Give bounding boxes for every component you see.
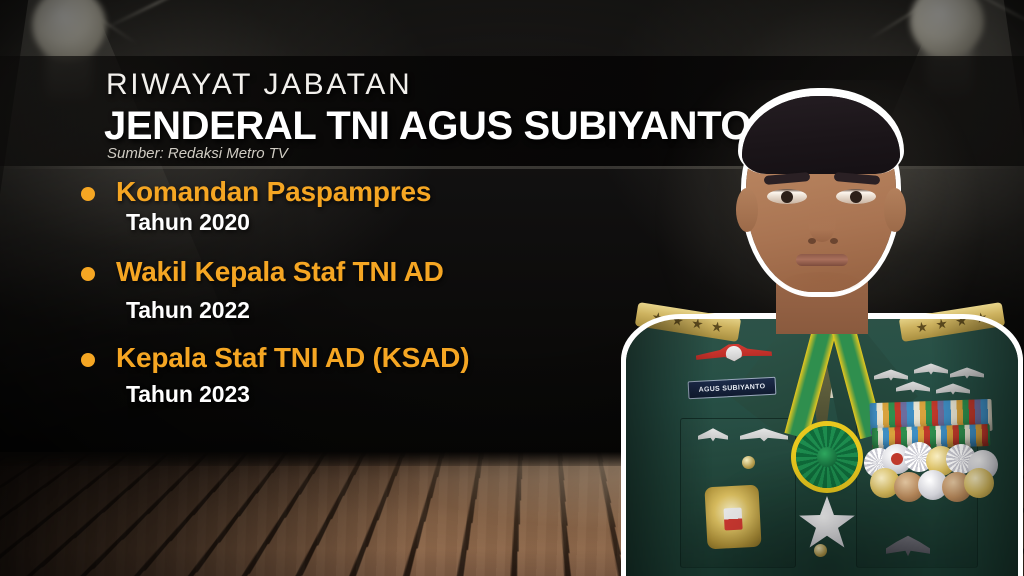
bullet-dot-icon — [81, 267, 95, 281]
kicker-text: RIWAYAT JABATAN — [106, 68, 412, 102]
nose — [808, 200, 836, 242]
career-history-list: Komandan Paspampres Tahun 2020 Wakil Kep… — [78, 176, 638, 420]
jacket-shading — [626, 318, 1018, 576]
source-credit: Sumber: Redaksi Metro TV — [107, 145, 288, 162]
pupil-right — [850, 191, 862, 203]
position-title: Komandan Paspampres — [116, 176, 638, 208]
floor-shadow-left — [0, 452, 420, 576]
nostril-left — [808, 238, 816, 244]
ear-left — [736, 188, 758, 232]
list-item: Kepala Staf TNI AD (KSAD) Tahun 2023 — [78, 342, 638, 408]
bullet-dot-icon — [81, 187, 95, 201]
bullet-dot-icon — [81, 353, 95, 367]
mouth — [796, 254, 848, 266]
position-year: Tahun 2023 — [126, 381, 638, 408]
position-year: Tahun 2020 — [126, 209, 638, 236]
position-year: Tahun 2022 — [126, 297, 638, 324]
portrait-cutout: AGUS SUBIYANTO — [618, 96, 1024, 576]
eye-right — [836, 189, 876, 204]
pupil-left — [781, 191, 793, 203]
list-item: Komandan Paspampres Tahun 2020 — [78, 176, 638, 236]
eye-left — [767, 189, 807, 204]
ear-right — [884, 188, 906, 232]
hair — [742, 96, 900, 174]
chin-shading — [784, 272, 860, 292]
position-title: Wakil Kepala Staf TNI AD — [116, 256, 638, 288]
nostril-right — [830, 238, 838, 244]
list-item: Wakil Kepala Staf TNI AD Tahun 2022 — [78, 256, 638, 324]
broadcast-graphic-stage: RIWAYAT JABATAN JENDERAL TNI AGUS SUBIYA… — [0, 0, 1024, 576]
position-title: Kepala Staf TNI AD (KSAD) — [116, 342, 638, 374]
